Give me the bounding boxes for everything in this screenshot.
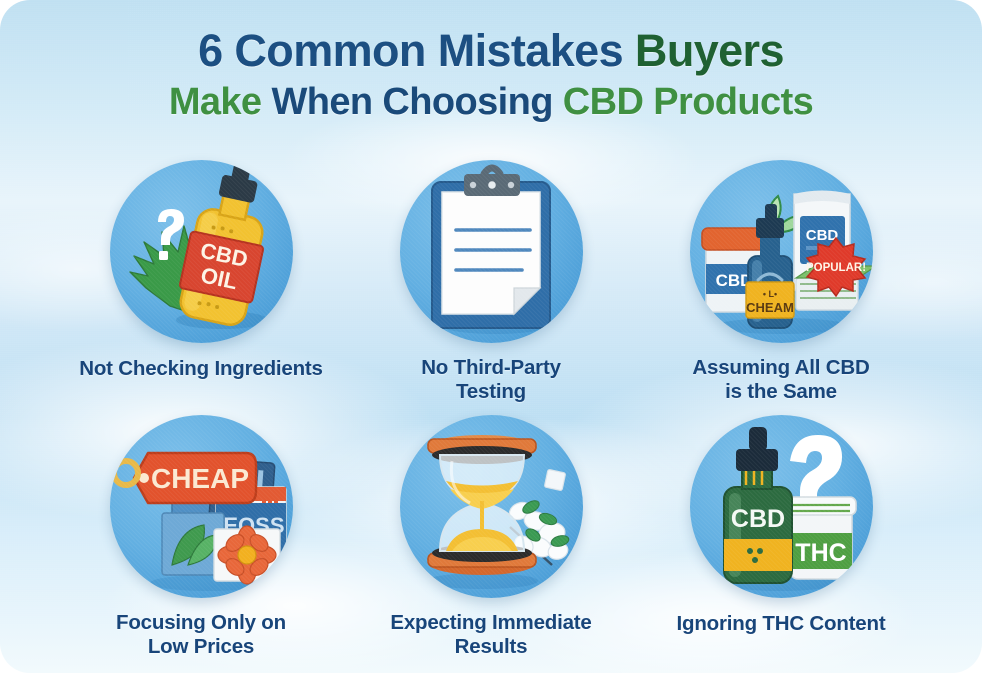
title-line1-part2: Buyers xyxy=(635,25,784,76)
cbd-bottle-thc-jar-question-icon: THC CBD xyxy=(690,415,873,598)
caption-5-line1: Expecting Immediate xyxy=(390,611,591,635)
cbd-products-assortment-popular-badge-icon: CBD xyxy=(690,160,873,343)
caption-3-line2: is the Same xyxy=(692,380,869,404)
box-label: HEOSS xyxy=(207,513,284,538)
dropper-label-line2: CHEAM xyxy=(746,300,794,315)
thc-jar-label: THC xyxy=(795,539,846,567)
popular-badge: POPULAR! xyxy=(805,262,865,274)
bottle-label-line1: CBD xyxy=(198,238,250,272)
infographic-poster: 6 Common Mistakes Buyers Make When Choos… xyxy=(0,0,982,673)
grid-item-3: CBD xyxy=(636,160,926,415)
caption-5-line2: Results xyxy=(390,635,591,659)
cheap-tag-label: CHEAP xyxy=(150,463,248,494)
grid-item-2: No Third-Party Testing xyxy=(346,160,636,415)
title-line1-part1: 6 Common Mistakes xyxy=(198,25,623,76)
hourglass-flowers-icon xyxy=(400,415,583,598)
cbd-oil-bottle-hemp-leaf-question-icon: CBD OIL xyxy=(110,160,293,343)
caption-1: Not Checking Ingredients xyxy=(79,357,323,381)
pouch-label: CBD xyxy=(805,227,838,244)
caption-2: No Third-Party Testing xyxy=(421,356,561,404)
title-line2-part1: Make xyxy=(169,81,262,123)
title-line-2: Make When Choosing CBD Products xyxy=(0,83,982,121)
title-line2-part3: CBD Products xyxy=(563,81,813,123)
clipboard-document-icon xyxy=(400,160,583,343)
caption-4-line2: Low Prices xyxy=(116,635,286,659)
jar-label: CBD xyxy=(715,271,752,290)
grid-item-4: HEOSS xyxy=(56,415,346,663)
cbd-bottle-label: CBD xyxy=(730,505,784,533)
caption-5: Expecting Immediate Results xyxy=(390,611,591,659)
title-line2-part2: When Choosing xyxy=(271,81,552,123)
caption-6: Ignoring THC Content xyxy=(677,612,886,636)
caption-2-line2: Testing xyxy=(421,380,561,404)
page-title: 6 Common Mistakes Buyers Make When Choos… xyxy=(0,28,982,121)
grid-item-5: Expecting Immediate Results xyxy=(346,415,636,663)
bottle-label-line2: OIL xyxy=(198,262,239,294)
caption-4-line1: Focusing Only on xyxy=(116,611,286,635)
caption-1-line1: Not Checking Ingredients xyxy=(79,357,323,381)
cheap-price-tag-product-boxes-icon: HEOSS xyxy=(110,415,293,598)
caption-4: Focusing Only on Low Prices xyxy=(116,611,286,659)
caption-3-line1: Assuming All CBD xyxy=(692,356,869,380)
grid-item-6: THC CBD xyxy=(636,415,926,663)
caption-3: Assuming All CBD is the Same xyxy=(692,356,869,404)
mistakes-grid: CBD OIL Not Checking Ingredients xyxy=(56,160,926,663)
title-line-1: 6 Common Mistakes Buyers xyxy=(0,28,982,73)
caption-6-line1: Ignoring THC Content xyxy=(677,612,886,636)
dropper-label-line1: • L• xyxy=(762,289,776,299)
grid-item-1: CBD OIL Not Checking Ingredients xyxy=(56,160,346,415)
caption-2-line1: No Third-Party xyxy=(421,356,561,380)
